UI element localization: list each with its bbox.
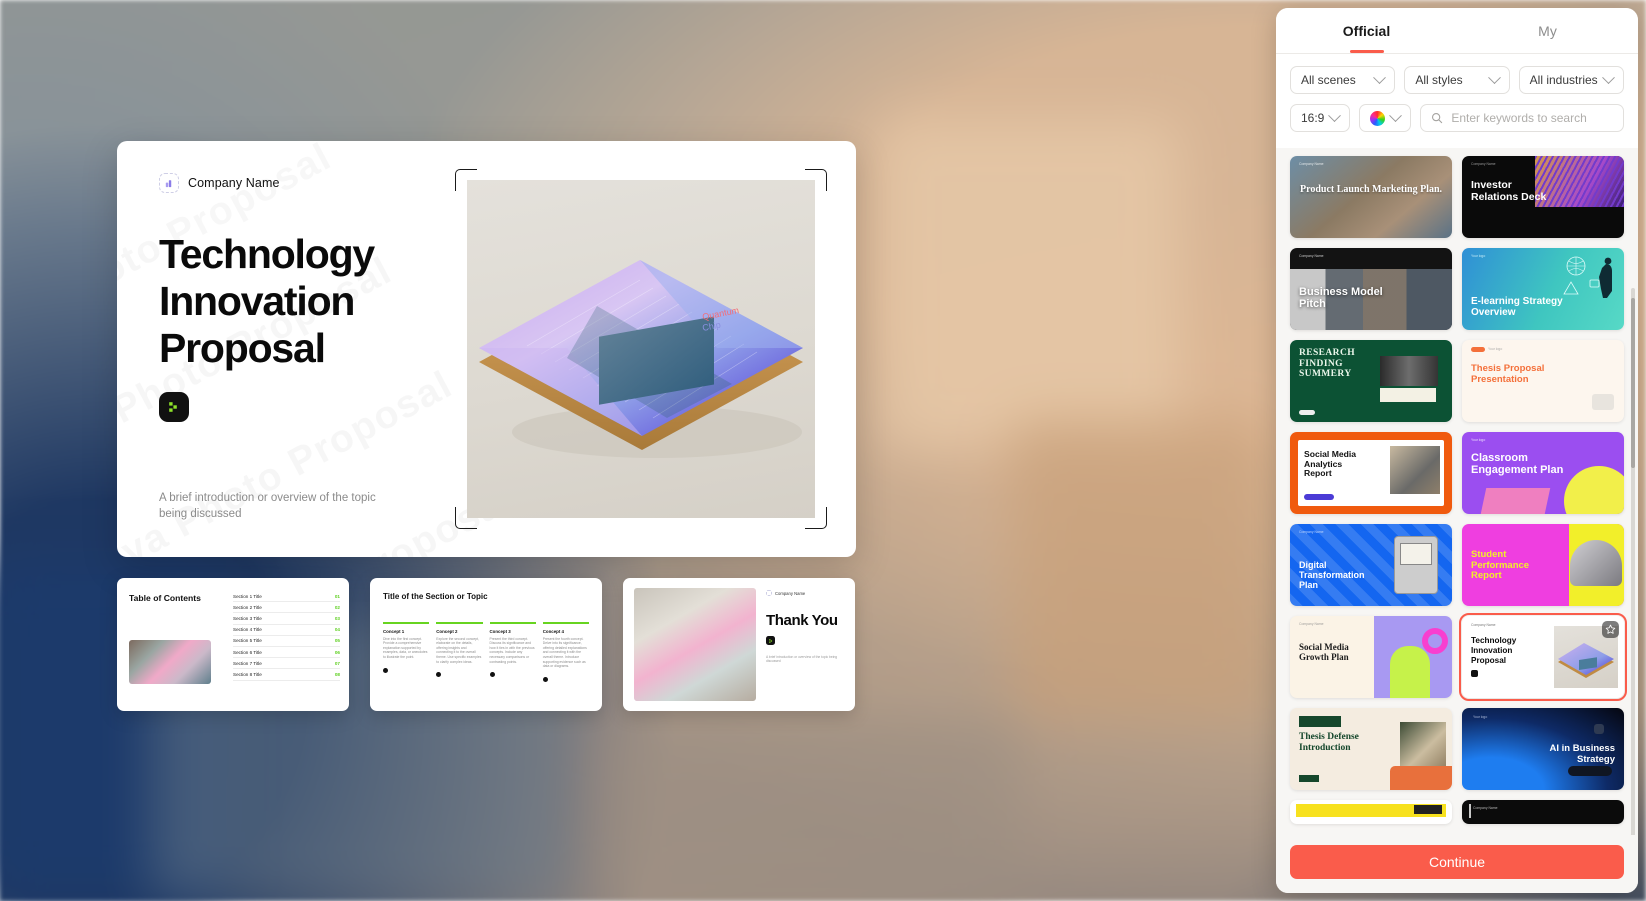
concept-columns: Concept 1 Dive into the first concept. P… xyxy=(383,622,589,682)
thank-you-image xyxy=(634,588,756,701)
mini-slide-section-topic[interactable]: Title of the Section or Topic Concept 1 … xyxy=(370,578,602,711)
thank-you-title: Thank You xyxy=(766,613,846,629)
brand-badge-icon xyxy=(766,636,775,645)
template-title: Technology Innovation Proposal xyxy=(1471,636,1537,666)
template-picker-panel: Official My All scenes All styles All in… xyxy=(1276,8,1638,893)
template-card-classroom-engagement-plan[interactable]: Your logo Classroom Engagement Plan xyxy=(1462,432,1624,514)
toc-row-label: Section 5 Title xyxy=(233,638,262,643)
template-decoration xyxy=(1594,724,1604,734)
concept-dot-icon xyxy=(436,672,441,677)
toc-row-label: Section 2 Title xyxy=(233,605,262,610)
toc-row: Section 3 Title 03 xyxy=(233,613,340,624)
template-title: Product Launch Marketing Plan. xyxy=(1299,184,1443,195)
template-eyebrow: Your logo xyxy=(1488,347,1502,351)
filter-row-primary: All scenes All styles All industries xyxy=(1290,66,1624,94)
filter-ratio-dropdown[interactable]: 16:9 xyxy=(1290,104,1350,132)
mini-slide-thank-you[interactable]: Company Name Thank You A brief introduct… xyxy=(623,578,855,711)
slide-subtitle: A brief introduction or overview of the … xyxy=(159,491,384,522)
company-name-label: Company Name xyxy=(775,591,805,596)
template-decoration xyxy=(1469,804,1471,818)
toc-title: Table of Contents xyxy=(129,593,201,603)
slide-preview-canvas[interactable]: Canva Photo Proposal Canva Photo Proposa… xyxy=(117,141,856,557)
template-decoration-pill xyxy=(1414,805,1442,814)
toc-row: Section 7 Title 07 xyxy=(233,658,340,669)
template-title: Thesis Defense Introduction xyxy=(1299,732,1373,753)
filter-industries-label: All industries xyxy=(1530,73,1598,87)
toc-row: Section 8 Title 08 xyxy=(233,669,340,680)
template-decoration xyxy=(1478,488,1551,514)
template-decoration xyxy=(1299,716,1341,727)
template-card-ai-in-business-strategy[interactable]: Your logo AI in Business Strategy xyxy=(1462,708,1624,790)
template-decoration xyxy=(1592,394,1614,410)
slide-text-block: Company Name Technology Innovation Propo… xyxy=(159,173,459,422)
toc-row-number: 02 xyxy=(335,605,340,610)
chevron-down-icon xyxy=(1389,109,1402,122)
tab-my[interactable]: My xyxy=(1457,8,1638,53)
toc-row-number: 05 xyxy=(335,638,340,643)
template-decoration-caption xyxy=(1380,388,1436,402)
toc-row-number: 08 xyxy=(335,672,340,677)
template-eyebrow: Company Name xyxy=(1471,162,1496,166)
concept-body: Present the third concept. Discuss its s… xyxy=(490,637,536,665)
tab-official[interactable]: Official xyxy=(1276,8,1457,53)
template-card-social-media-analytics-report[interactable]: Social Media Analytics Report xyxy=(1290,432,1452,514)
template-title: Business Model Pitch xyxy=(1299,286,1391,311)
concept-column: Concept 4 Present the fourth concept. De… xyxy=(543,622,589,682)
continue-button[interactable]: Continue xyxy=(1290,845,1624,879)
concept-heading: Concept 2 xyxy=(436,629,482,634)
template-title: Social Media Analytics Report xyxy=(1304,450,1358,479)
chevron-down-icon xyxy=(1602,71,1615,84)
template-eyebrow: Company Name xyxy=(1299,254,1324,258)
toc-thumbnail-image xyxy=(129,640,211,684)
toc-row: Section 2 Title 02 xyxy=(233,602,340,613)
template-eyebrow: Company Name xyxy=(1471,623,1496,627)
concept-accent-bar xyxy=(436,622,482,624)
mini-slide-table-of-contents[interactable]: Table of Contents Section 1 Title 01 Sec… xyxy=(117,578,349,711)
template-decoration xyxy=(1380,356,1438,386)
toc-row: Section 5 Title 05 xyxy=(233,636,340,647)
template-eyebrow: Company Name xyxy=(1299,622,1324,626)
template-card-partial-yellow[interactable] xyxy=(1290,800,1452,824)
company-row: Company Name xyxy=(159,173,459,193)
template-decoration-pill xyxy=(1471,347,1485,352)
template-decoration-photo xyxy=(1400,722,1446,772)
toc-row-number: 03 xyxy=(335,616,340,621)
template-title: Investor Relations Deck xyxy=(1471,180,1555,204)
template-title: E-learning Strategy Overview xyxy=(1471,296,1576,318)
toc-row-number: 01 xyxy=(335,594,340,599)
slide-image-frame: Quantum Chip xyxy=(455,169,827,529)
toc-row-label: Section 3 Title xyxy=(233,616,262,621)
template-decoration-pill xyxy=(1299,775,1319,782)
filter-scenes-dropdown[interactable]: All scenes xyxy=(1290,66,1395,94)
concept-heading: Concept 4 xyxy=(543,629,589,634)
template-card-elearning-strategy-overview[interactable]: Your logo E-learning Strategy Overview xyxy=(1462,248,1624,330)
filter-styles-dropdown[interactable]: All styles xyxy=(1404,66,1509,94)
toc-row: Section 4 Title 04 xyxy=(233,625,340,636)
company-name-label: Company Name xyxy=(188,176,280,190)
template-grid: Company Name Product Launch Marketing Pl… xyxy=(1290,156,1624,824)
concept-heading: Concept 1 xyxy=(383,629,429,634)
template-grid-scroll-area[interactable]: Company Name Product Launch Marketing Pl… xyxy=(1276,148,1638,835)
template-decoration-person xyxy=(1390,646,1430,698)
template-decoration xyxy=(1390,766,1452,790)
template-eyebrow: Company Name xyxy=(1299,530,1324,534)
panel-scrollbar-thumb[interactable] xyxy=(1631,298,1635,468)
chevron-down-icon xyxy=(1373,71,1386,84)
concept-column: Concept 2 Explore the second concept, el… xyxy=(436,622,482,682)
template-eyebrow: Company Name xyxy=(1299,162,1324,166)
toc-row-label: Section 4 Title xyxy=(233,627,262,632)
concept-accent-bar xyxy=(490,622,536,624)
template-title: Social Media Growth Plan xyxy=(1299,642,1369,662)
toc-row-label: Section 6 Title xyxy=(233,650,262,655)
concept-dot-icon xyxy=(490,672,495,677)
template-eyebrow: Your logo xyxy=(1471,438,1485,442)
toc-row-number: 07 xyxy=(335,661,340,666)
template-decoration-photo xyxy=(1390,446,1440,494)
star-icon xyxy=(1605,624,1616,635)
concept-accent-bar xyxy=(543,622,589,624)
template-title: AI in Business Strategy xyxy=(1529,744,1615,765)
filter-industries-dropdown[interactable]: All industries xyxy=(1519,66,1624,94)
concept-dot-icon xyxy=(543,677,548,682)
concept-body: Explore the second concept, elaborate on… xyxy=(436,637,482,665)
company-logo-icon xyxy=(766,590,772,596)
template-card-research-finding-summery[interactable]: RESEARCH FINDING SUMMERY xyxy=(1290,340,1452,422)
concept-heading: Concept 3 xyxy=(490,629,536,634)
filter-styles-label: All styles xyxy=(1415,73,1462,87)
template-eyebrow: Company Name xyxy=(1473,806,1498,810)
template-title: Thesis Proposal Presentation xyxy=(1471,364,1571,385)
template-decoration-pill xyxy=(1568,766,1612,776)
toc-row-number: 06 xyxy=(335,650,340,655)
template-decoration xyxy=(1560,254,1618,300)
favorite-star-button[interactable] xyxy=(1602,621,1619,638)
concept-accent-bar xyxy=(383,622,429,624)
company-logo-icon xyxy=(159,173,179,193)
template-title: Student Performance Report xyxy=(1471,550,1543,582)
toc-row-number: 04 xyxy=(335,627,340,632)
toc-list: Section 1 Title 01 Section 2 Title 02 Se… xyxy=(233,591,340,681)
chevron-down-icon xyxy=(1328,109,1341,122)
template-card-technology-innovation-proposal[interactable]: Company Name Technology Innovation Propo… xyxy=(1462,616,1624,698)
search-icon xyxy=(1431,112,1443,124)
template-title: Classroom Engagement Plan xyxy=(1471,452,1579,477)
filter-scenes-label: All scenes xyxy=(1301,73,1356,87)
template-decoration-pill xyxy=(1299,410,1315,415)
slide-title: Technology Innovation Proposal xyxy=(159,231,459,372)
template-card-partial-dark[interactable]: Company Name xyxy=(1462,800,1624,824)
template-card-student-performance-report[interactable]: Student Performance Report xyxy=(1462,524,1624,606)
template-decoration-ring xyxy=(1422,628,1448,654)
template-title: Digital Transformation Plan xyxy=(1299,560,1371,590)
template-card-investor-relations-deck[interactable]: Company Name Investor Relations Deck xyxy=(1462,156,1624,238)
template-eyebrow: Your logo xyxy=(1473,715,1487,719)
quantum-chip-image: Quantum Chip xyxy=(467,180,815,518)
concept-body: Present the fourth concept. Delve into i… xyxy=(543,637,589,669)
thank-you-company-row: Company Name xyxy=(766,590,846,596)
concept-column: Concept 3 Present the third concept. Dis… xyxy=(490,622,536,682)
toc-row: Section 6 Title 06 xyxy=(233,647,340,658)
brand-badge-icon xyxy=(159,392,189,422)
thank-you-subtitle: A brief introduction or overview of the … xyxy=(766,655,846,664)
template-card-social-media-growth-plan[interactable]: Company Name Social Media Growth Plan xyxy=(1290,616,1452,698)
template-card-business-model-pitch[interactable]: Company Name Business Model Pitch xyxy=(1290,248,1452,330)
template-decoration-pill xyxy=(1304,494,1334,500)
template-decoration-screen xyxy=(1400,543,1432,565)
toc-row-label: Section 1 Title xyxy=(233,594,262,599)
filter-ratio-label: 16:9 xyxy=(1301,111,1324,125)
thank-you-text-block: Company Name Thank You A brief introduct… xyxy=(766,590,846,664)
concept-column: Concept 1 Dive into the first concept. P… xyxy=(383,622,429,682)
panel-tabs: Official My xyxy=(1276,8,1638,54)
color-wheel-icon xyxy=(1370,111,1385,126)
section-title: Title of the Section or Topic xyxy=(383,592,488,601)
template-card-digital-transformation-plan[interactable]: Company Name Digital Transformation Plan xyxy=(1290,524,1452,606)
concept-dot-icon xyxy=(383,668,388,673)
search-input[interactable] xyxy=(1451,111,1613,125)
toc-row: Section 1 Title 01 xyxy=(233,591,340,602)
toc-row-label: Section 7 Title xyxy=(233,661,262,666)
brand-badge-icon xyxy=(1471,670,1478,677)
concept-body: Dive into the first concept. Provide a c… xyxy=(383,637,429,660)
template-eyebrow: Your logo xyxy=(1471,254,1485,258)
template-card-thesis-defense-introduction[interactable]: Thesis Defense Introduction xyxy=(1290,708,1452,790)
search-box[interactable] xyxy=(1420,104,1624,132)
filter-bar: All scenes All styles All industries 16:… xyxy=(1276,54,1638,148)
template-card-thesis-proposal-presentation[interactable]: Your logo Thesis Proposal Presentation xyxy=(1462,340,1624,422)
filter-row-secondary: 16:9 xyxy=(1290,104,1624,132)
chevron-down-icon xyxy=(1488,71,1501,84)
template-card-product-launch-marketing-plan[interactable]: Company Name Product Launch Marketing Pl… xyxy=(1290,156,1452,238)
panel-footer: Continue xyxy=(1276,835,1638,893)
template-decoration-object xyxy=(1570,540,1622,586)
toc-row-label: Section 8 Title xyxy=(233,672,262,677)
filter-color-dropdown[interactable] xyxy=(1359,104,1411,132)
